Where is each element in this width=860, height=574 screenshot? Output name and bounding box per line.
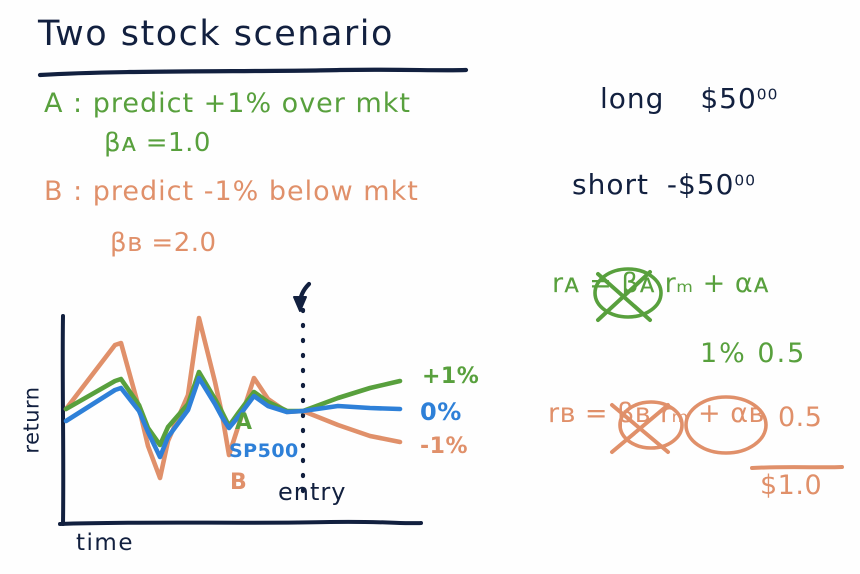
chart-x-axis-label: time bbox=[76, 530, 134, 556]
series-line-a bbox=[66, 372, 400, 445]
chart-x-axis bbox=[60, 522, 421, 524]
series-label-sp500: SP500 bbox=[229, 440, 299, 462]
entry-marker-label: entry bbox=[278, 478, 346, 506]
stock-a-statement: A : predict +1% over mkt bbox=[44, 88, 411, 119]
short-position: short -$5000 bbox=[572, 168, 756, 201]
chart-y-axis-label: return bbox=[20, 386, 44, 453]
title-underline bbox=[40, 70, 466, 75]
series-label-a: A bbox=[235, 410, 253, 435]
long-cents: 00 bbox=[757, 86, 779, 104]
whiteboard-canvas: Two stock scenario A : predict +1% over … bbox=[0, 0, 860, 574]
equation-b-fraction-bar bbox=[752, 467, 842, 468]
stock-b-statement: B : predict -1% below mkt bbox=[44, 176, 419, 207]
stock-b-beta: βʙ =2.0 bbox=[110, 228, 217, 258]
short-label: short bbox=[572, 168, 649, 201]
equation-a: rᴀ = βᴀ rₘ + αᴀ bbox=[552, 268, 770, 299]
equation-b: rʙ = βʙ rₘ + αʙ bbox=[548, 398, 765, 429]
short-cents: 00 bbox=[734, 172, 756, 190]
long-position: long $5000 bbox=[600, 82, 778, 115]
equation-b-value: 0.5 bbox=[778, 402, 822, 433]
entry-arrow-head-icon bbox=[294, 297, 306, 311]
series-label-b: B bbox=[230, 470, 247, 495]
series-label-zero-percent: 0% bbox=[420, 398, 462, 426]
short-amount: -$50 bbox=[667, 168, 735, 201]
equation-b-total: $1.0 bbox=[760, 470, 822, 501]
long-amount: $50 bbox=[700, 82, 756, 115]
series-label-minus-one-percent: -1% bbox=[420, 434, 468, 459]
equation-a-values: 1% 0.5 bbox=[700, 338, 806, 369]
chart-y-axis bbox=[63, 316, 64, 524]
long-label: long bbox=[600, 82, 664, 115]
stock-a-beta: βᴀ =1.0 bbox=[104, 128, 211, 158]
page-title: Two stock scenario bbox=[38, 14, 394, 54]
entry-arrow-icon bbox=[300, 284, 309, 304]
series-label-plus-one-percent: +1% bbox=[422, 364, 479, 389]
